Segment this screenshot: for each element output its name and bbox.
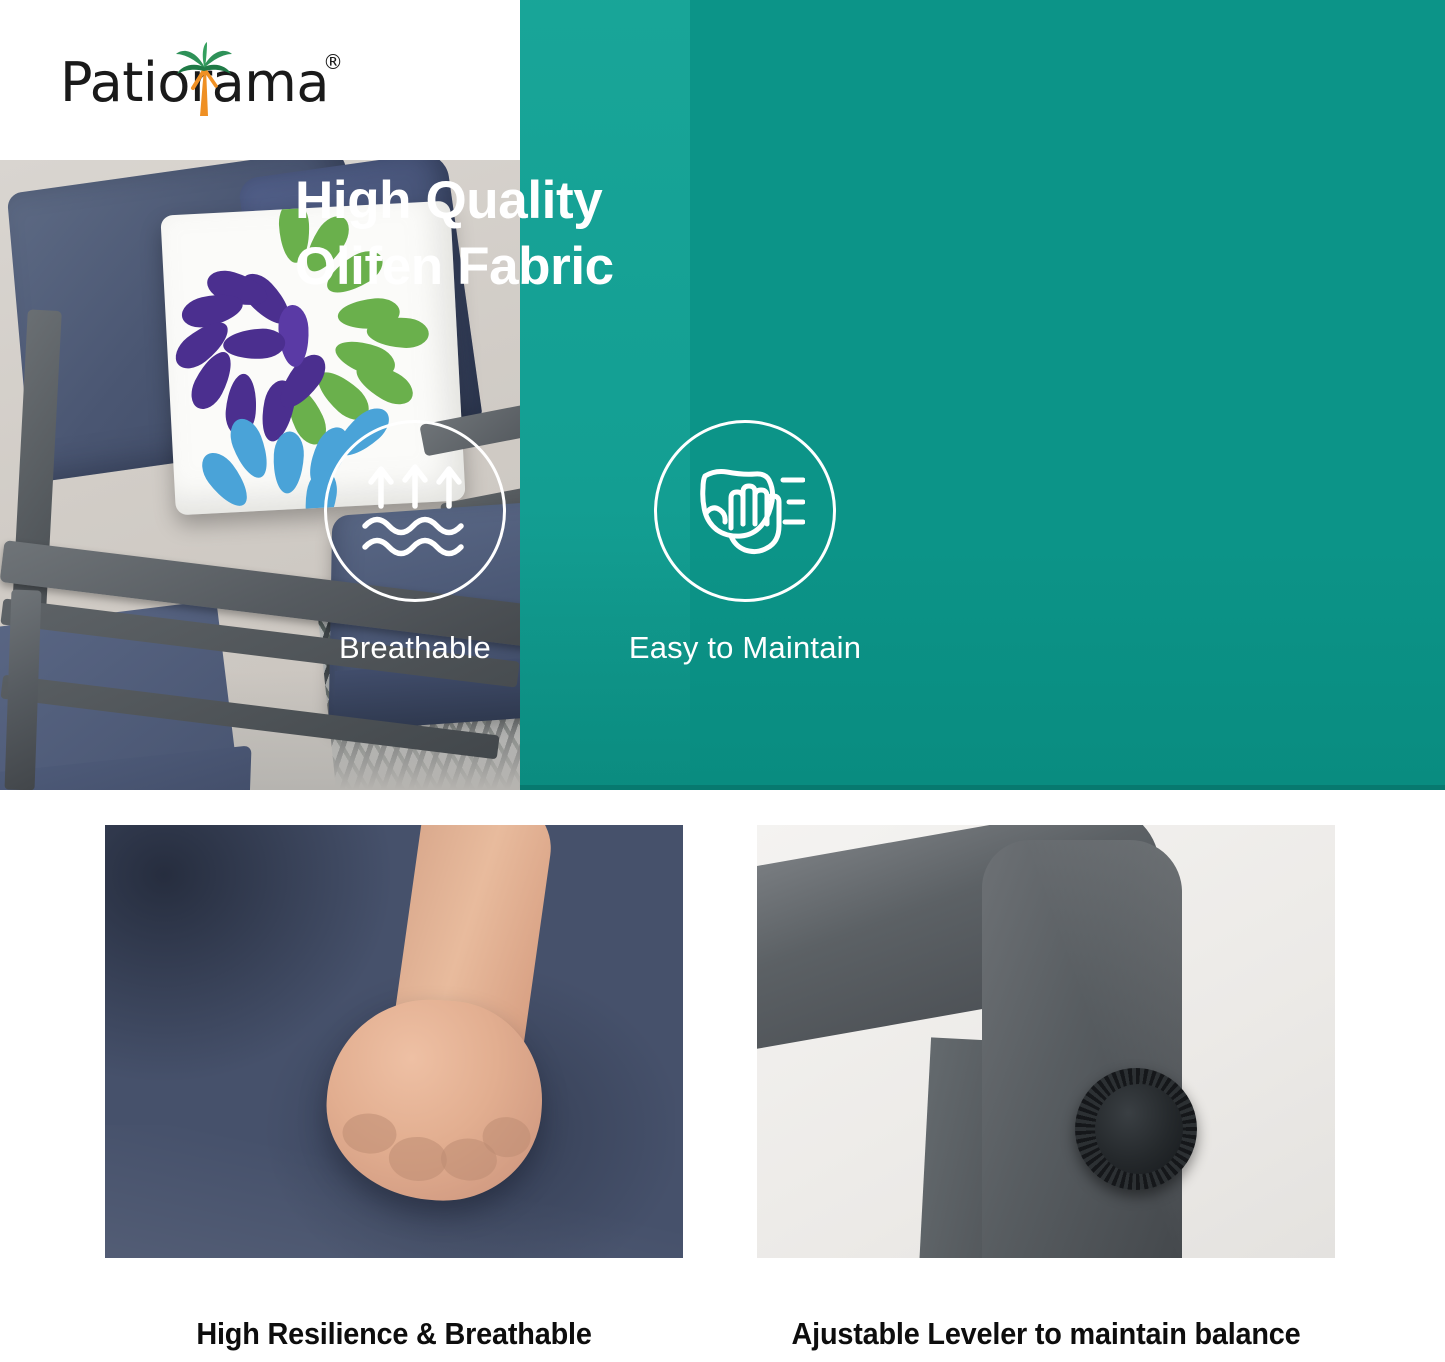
promo-panel xyxy=(520,0,1445,790)
knob-face xyxy=(1095,1084,1183,1174)
logo-bar: Patiorama ® xyxy=(0,0,520,160)
feature-easy-to-maintain: Easy to Maintain xyxy=(580,420,910,666)
leveler-photo xyxy=(757,825,1335,1258)
feature-label-breathable: Breathable xyxy=(339,630,491,666)
headline-line-1: High Quality xyxy=(295,168,895,234)
caption-leveler: Ajustable Leveler to maintain balance xyxy=(777,1316,1315,1352)
registered-trademark-icon: ® xyxy=(323,50,343,74)
breathable-arrows-waves-icon xyxy=(355,454,475,569)
feature-badges: Breathable Easy to Maintain xyxy=(250,420,910,666)
feature-label-maintain: Easy to Maintain xyxy=(629,630,861,666)
maintain-icon-circle xyxy=(654,420,836,602)
brand-logo[interactable]: Patiorama ® xyxy=(60,48,360,118)
panel-bottom-edge xyxy=(520,785,1445,790)
caption-resilience: High Resilience & Breathable xyxy=(125,1316,663,1352)
adjustable-leveler-knob xyxy=(1075,1068,1197,1190)
palm-tree-icon xyxy=(173,42,235,118)
frame-highlight xyxy=(982,840,1182,1258)
resilience-photo xyxy=(105,825,683,1258)
headline-line-2: Olifen Fabric xyxy=(295,234,895,300)
feature-breathable: Breathable xyxy=(250,420,580,666)
promo-headline: High Quality Olifen Fabric xyxy=(295,168,895,300)
breathable-icon-circle xyxy=(324,420,506,602)
hand-wiping-cloth-icon xyxy=(685,454,805,569)
